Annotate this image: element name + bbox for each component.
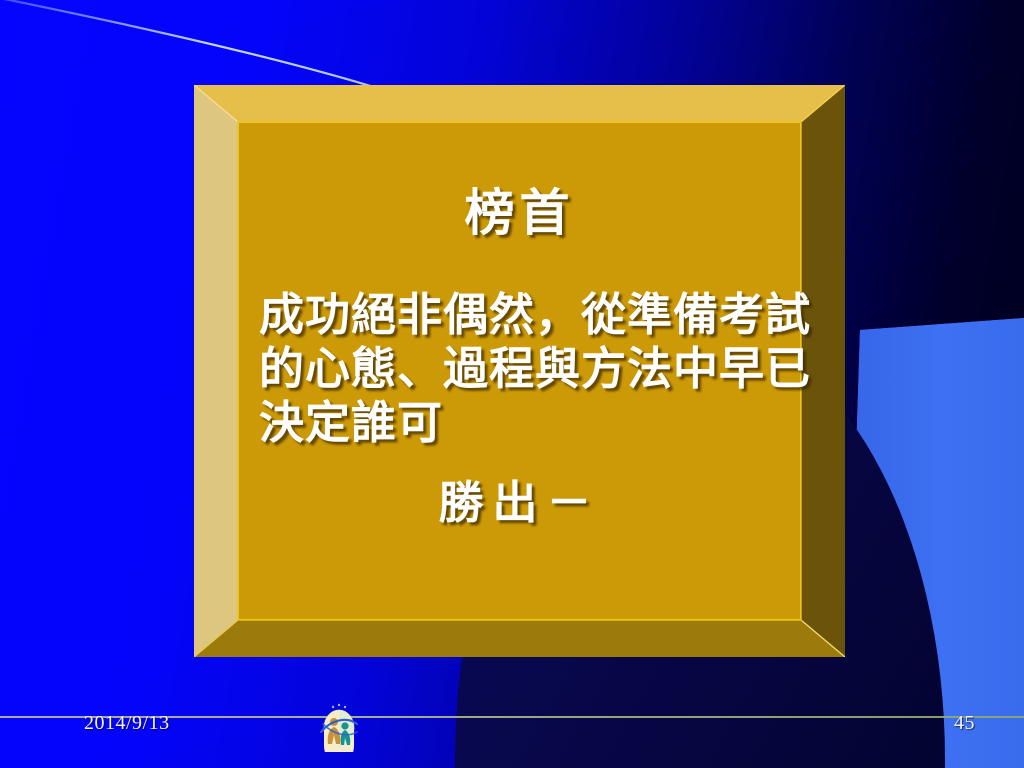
bevel-top [194,85,845,122]
body-line-2: 的心態、過程與方法中早已 [259,342,786,396]
presentation-slide: 榜首 成功絕非偶然，從準備考試 的心態、過程與方法中早已 決定誰可 勝出－ 20… [0,0,1024,768]
footer-date: 2014/9/13 [84,712,170,735]
bevel-bottom [194,620,845,657]
two-figures-emblem-logo-icon [317,700,361,752]
footer-page-number: 45 [954,712,975,735]
body-line-3: 決定誰可 [259,396,786,450]
slide-title: 榜首 [239,187,800,240]
plaque-text-content: 榜首 成功絕非偶然，從準備考試 的心態、過程與方法中早已 決定誰可 勝出－ [239,123,800,619]
slide-closing-line: 勝出－ [239,466,800,531]
plaque-inner-panel: 榜首 成功絕非偶然，從準備考試 的心態、過程與方法中早已 決定誰可 勝出－ [238,122,801,620]
body-line-1: 成功絕非偶然，從準備考試 [259,288,786,342]
content-plaque: 榜首 成功絕非偶然，從準備考試 的心態、過程與方法中早已 決定誰可 勝出－ [194,85,845,657]
bevel-left [194,85,238,657]
slide-body-text: 成功絕非偶然，從準備考試 的心態、過程與方法中早已 決定誰可 [259,288,786,450]
